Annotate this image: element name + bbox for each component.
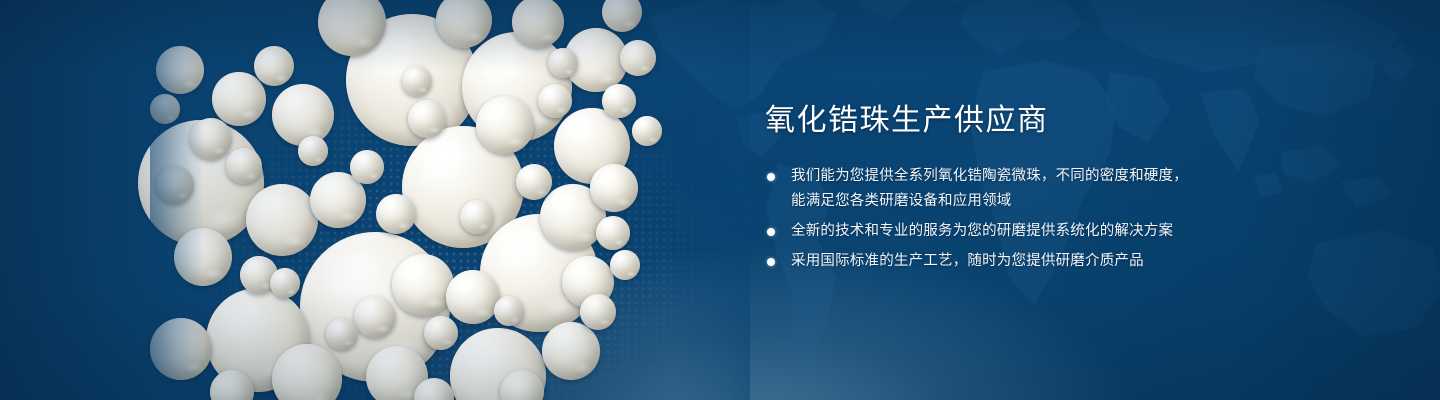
bullet-dot-icon [767, 228, 775, 236]
list-item-line1: 采用国际标准的生产工艺，随时为您提供研磨介质产品 [791, 253, 1144, 269]
bullet-dot-icon [767, 258, 775, 266]
banner-copy: 氧化锆珠生产供应商 我们能为您提供全系列氧化锆陶瓷微珠，不同的密度和硬度， 能满… [765, 102, 1385, 279]
list-item-line1: 全新的技术和专业的服务为您的研磨提供系统化的解决方案 [791, 223, 1173, 239]
list-item: 采用国际标准的生产工艺，随时为您提供研磨介质产品 [765, 249, 1385, 274]
list-item-line1: 我们能为您提供全系列氧化锆陶瓷微珠，不同的密度和硬度， [791, 168, 1188, 184]
page-title: 氧化锆珠生产供应商 [765, 102, 1385, 140]
bullet-dot-icon [767, 173, 775, 181]
list-item: 全新的技术和专业的服务为您的研磨提供系统化的解决方案 [765, 219, 1385, 244]
list-item-line2: 能满足您各类研磨设备和应用领域 [791, 189, 1385, 214]
feature-list: 我们能为您提供全系列氧化锆陶瓷微珠，不同的密度和硬度， 能满足您各类研磨设备和应… [765, 164, 1385, 274]
hero-banner: 氧化锆珠生产供应商 我们能为您提供全系列氧化锆陶瓷微珠，不同的密度和硬度， 能满… [0, 0, 1440, 400]
list-item: 我们能为您提供全系列氧化锆陶瓷微珠，不同的密度和硬度， 能满足您各类研磨设备和应… [765, 164, 1385, 214]
